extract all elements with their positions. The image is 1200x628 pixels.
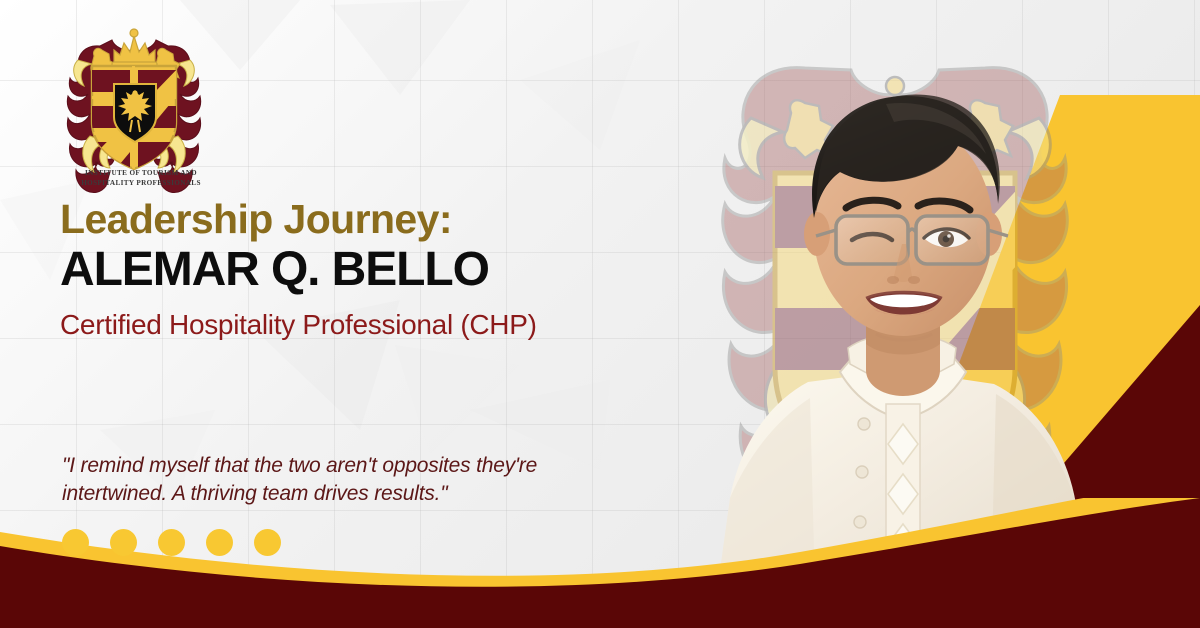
decor-dot-4 [206, 529, 233, 556]
logo-caption-line-2: HOSPITALITY PROFESSIONALS [56, 178, 226, 188]
decor-dot-3 [158, 529, 185, 556]
headline-block: Leadership Journey: ALEMAR Q. BELLO Cert… [60, 198, 670, 342]
decor-dot-1 [62, 529, 89, 556]
quote-text: "I remind myself that the two aren't opp… [62, 452, 632, 508]
decor-dot-2 [110, 529, 137, 556]
logo-caption-line-1: INSTITUTE OF TOURISM AND [56, 168, 226, 178]
kicker-text: Leadership Journey: [60, 198, 670, 241]
leadership-journey-banner: INSTITUTE OF TOURISM AND HOSPITALITY PRO… [0, 0, 1200, 628]
credential-text: Certified Hospitality Professional (CHP) [60, 308, 670, 342]
person-name: ALEMAR Q. BELLO [60, 245, 670, 296]
logo-caption: INSTITUTE OF TOURISM AND HOSPITALITY PRO… [56, 168, 226, 188]
decor-dot-5 [254, 529, 281, 556]
decor-dot-row [62, 529, 281, 556]
bottom-wave-decor [0, 498, 1200, 628]
